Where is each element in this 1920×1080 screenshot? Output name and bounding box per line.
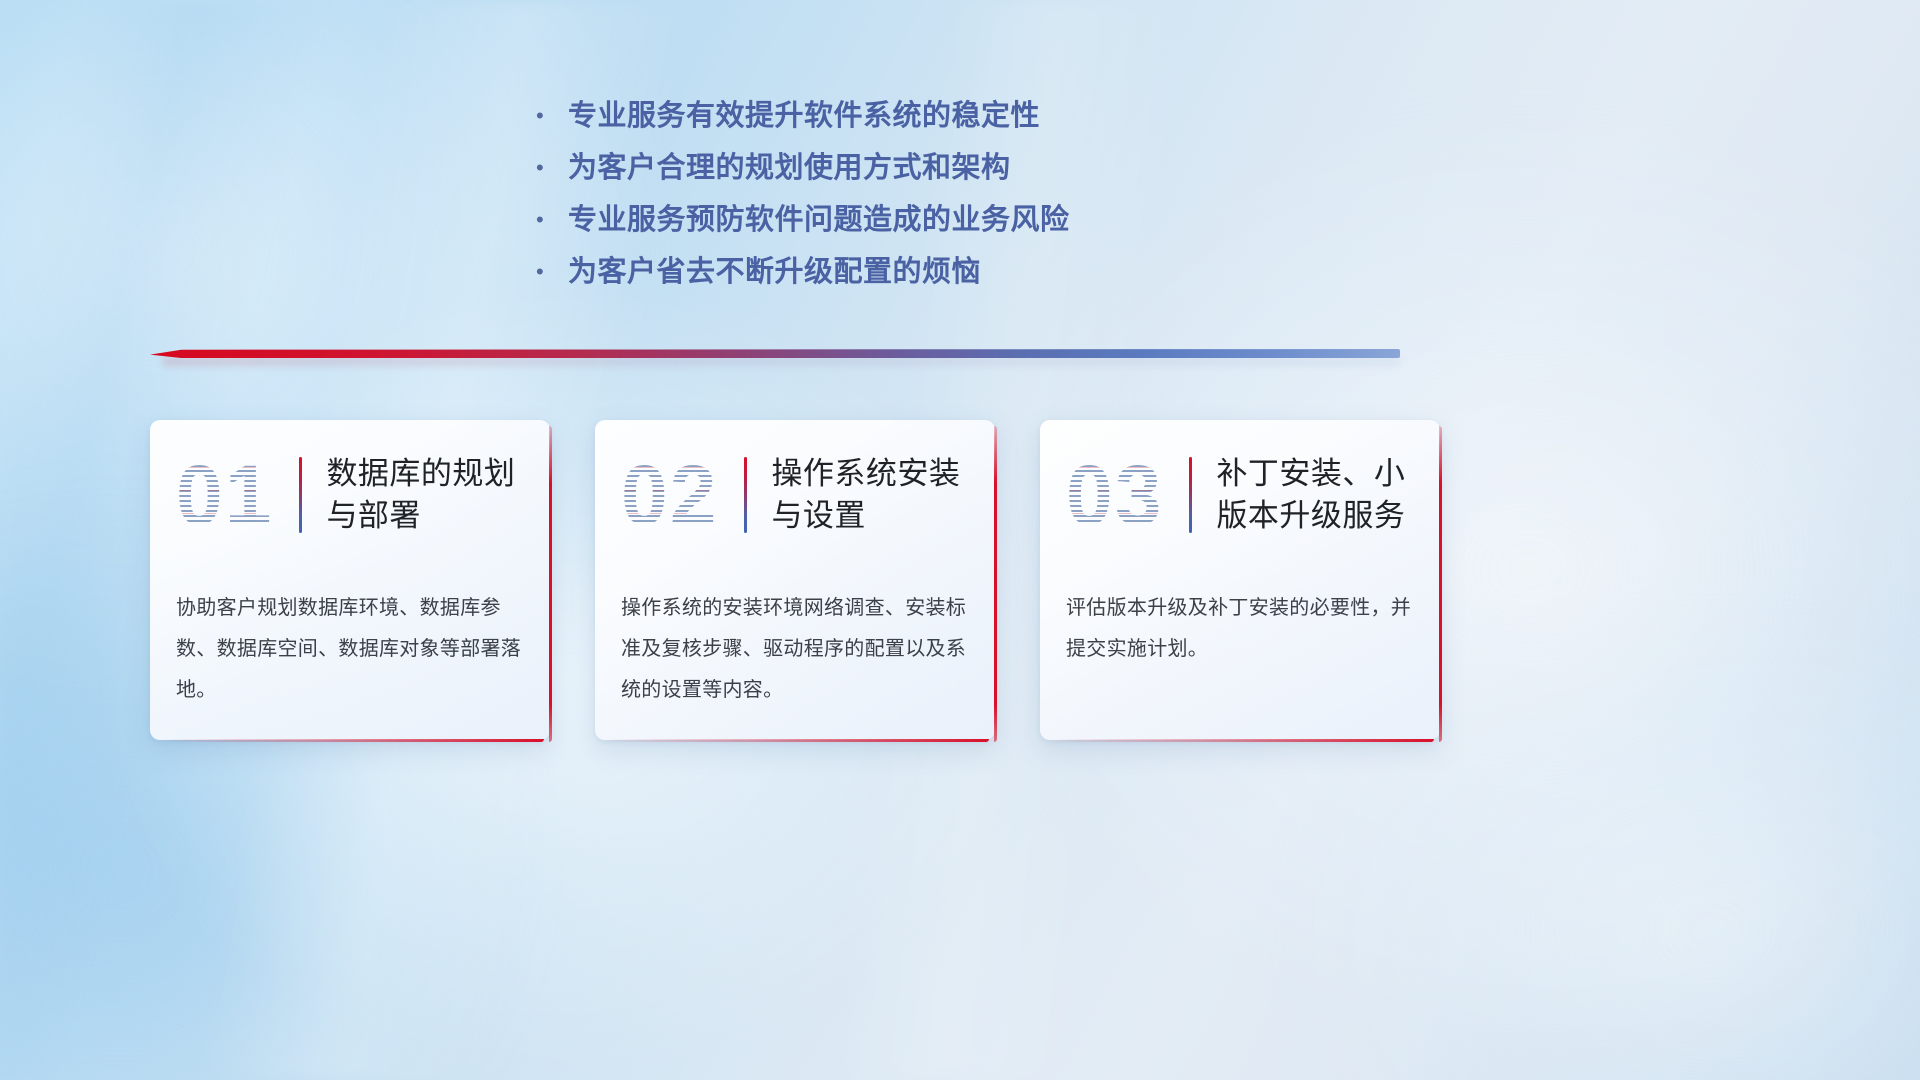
card-number-01: 0101: [176, 453, 279, 537]
card-title-line-1: 操作系统安装: [771, 453, 960, 495]
card-accent-rule: [1189, 457, 1192, 533]
card-number-02: 0202: [621, 453, 724, 537]
card-header: 0101 数据库的规划 与部署: [150, 420, 550, 570]
card-accent-rule: [299, 457, 302, 533]
card-number-01-overlay: 01: [176, 453, 273, 537]
card-header: 0303 补丁安装、小 版本升级服务: [1040, 420, 1440, 570]
card-body-02: 操作系统的安装环境网络调查、安装标准及复核步骤、驱动程序的配置以及系统的设置等内…: [595, 570, 995, 712]
divider-bar: [150, 349, 1400, 358]
list-item: • 为客户省去不断升级配置的烦恼: [536, 246, 1536, 298]
service-card-group: 0101 数据库的规划 与部署 协助客户规划数据库环境、数据库参数、数据库空间、…: [150, 420, 1770, 740]
card-title-line-2: 版本升级服务: [1216, 495, 1405, 537]
bullet-dot-icon: •: [536, 194, 568, 246]
card-number-03-overlay: 03: [1066, 453, 1163, 537]
list-item: • 专业服务预防软件问题造成的业务风险: [536, 194, 1536, 246]
bullet-dot-icon: •: [536, 90, 568, 142]
bullet-dot-icon: •: [536, 142, 568, 194]
benefit-bullet-list: • 专业服务有效提升软件系统的稳定性 • 为客户合理的规划使用方式和架构 • 专…: [536, 90, 1536, 298]
card-number-02-overlay: 02: [621, 453, 718, 537]
service-card-02[interactable]: 0202 操作系统安装 与设置 操作系统的安装环境网络调查、安装标准及复核步骤、…: [595, 420, 995, 740]
card-body-01: 协助客户规划数据库环境、数据库参数、数据库空间、数据库对象等部署落地。: [150, 570, 550, 712]
bullet-text-2: 为客户合理的规划使用方式和架构: [568, 142, 1011, 194]
bullet-dot-icon: •: [536, 246, 568, 298]
card-number-03: 0303: [1066, 453, 1169, 537]
list-item: • 专业服务有效提升软件系统的稳定性: [536, 90, 1536, 142]
card-title-line-1: 补丁安装、小: [1216, 453, 1405, 495]
service-card-03[interactable]: 0303 补丁安装、小 版本升级服务 评估版本升级及补丁安装的必要性，并提交实施…: [1040, 420, 1440, 740]
card-title-01: 数据库的规划 与部署: [326, 453, 515, 536]
bullet-text-4: 为客户省去不断升级配置的烦恼: [568, 246, 981, 298]
list-item: • 为客户合理的规划使用方式和架构: [536, 142, 1536, 194]
card-title-line-2: 与部署: [326, 495, 515, 537]
slide-canvas: • 专业服务有效提升软件系统的稳定性 • 为客户合理的规划使用方式和架构 • 专…: [0, 0, 1920, 1080]
bullet-text-3: 专业服务预防软件问题造成的业务风险: [568, 194, 1070, 246]
divider-shadow: [163, 358, 1401, 365]
card-title-03: 补丁安装、小 版本升级服务: [1216, 453, 1405, 536]
card-title-line-1: 数据库的规划: [326, 453, 515, 495]
service-card-01[interactable]: 0101 数据库的规划 与部署 协助客户规划数据库环境、数据库参数、数据库空间、…: [150, 420, 550, 740]
card-title-line-2: 与设置: [771, 495, 960, 537]
card-header: 0202 操作系统安装 与设置: [595, 420, 995, 570]
card-title-02: 操作系统安装 与设置: [771, 453, 960, 536]
card-accent-rule: [744, 457, 747, 533]
section-divider: [150, 345, 1400, 367]
bullet-text-1: 专业服务有效提升软件系统的稳定性: [568, 90, 1040, 142]
card-body-03: 评估版本升级及补丁安装的必要性，并提交实施计划。: [1040, 570, 1440, 670]
